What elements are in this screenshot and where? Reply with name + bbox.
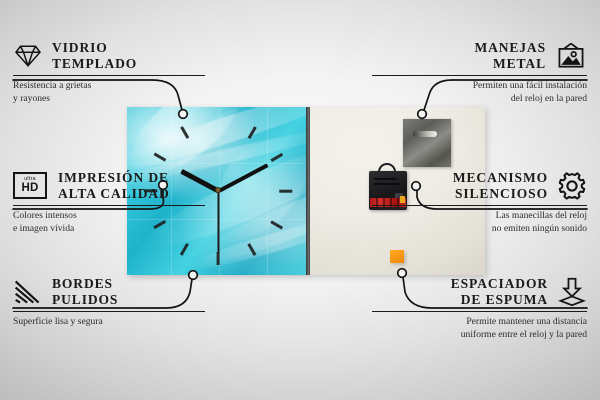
ultra-hd-large-text: HD <box>21 183 38 195</box>
feature-divider <box>13 205 205 207</box>
feature-espaciador-espuma: ESPACIADOR DE ESPUMA Permite mantener un… <box>372 276 587 342</box>
clock-tick <box>271 220 284 229</box>
feature-title-line1: IMPRESIÓN DE <box>58 170 170 186</box>
feature-title-line2: SILENCIOSO <box>453 186 548 202</box>
clock-tick <box>248 243 257 256</box>
feature-title-line2: METAL <box>474 56 546 72</box>
feature-vidrio-templado: VIDRIO TEMPLADO Resistencia a grietas y … <box>13 40 228 106</box>
feature-title-line1: ESPACIADOR <box>451 276 548 292</box>
feature-title-line1: VIDRIO <box>52 40 137 56</box>
ultra-hd-small-text: ultra <box>24 177 36 182</box>
clock-tick <box>154 153 167 162</box>
feature-title-line1: BORDES <box>52 276 118 292</box>
feature-title-line2: ALTA CALIDAD <box>58 186 170 202</box>
foam-spacer-arrow-icon <box>557 277 587 307</box>
polished-edge-icon <box>13 278 43 306</box>
clock-tick <box>180 243 189 256</box>
wall-hanging-frame-icon <box>555 41 587 71</box>
feature-description: Permiten una fácil instalación del reloj… <box>372 80 587 106</box>
clock-tick <box>271 153 284 162</box>
feature-bordes-pulidos: BORDES PULIDOS Superficie lisa y segura <box>13 276 228 329</box>
gear-icon <box>557 171 587 201</box>
feature-impresion-alta-calidad: ultra HD IMPRESIÓN DE ALTA CALIDAD Color… <box>13 170 228 236</box>
ultra-hd-icon: ultra HD <box>13 172 49 200</box>
feature-divider <box>372 75 587 77</box>
feature-description: Resistencia a grietas y rayones <box>13 80 228 106</box>
feature-mecanismo-silencioso: MECANISMO SILENCIOSO Las manecillas del … <box>372 170 587 236</box>
clock-tick <box>217 252 220 265</box>
feature-title-line1: MECANISMO <box>453 170 548 186</box>
clock-tick <box>279 190 292 193</box>
feature-manejas-metal: MANEJAS METAL Permiten una fácil instala… <box>372 40 587 106</box>
feature-divider <box>372 205 587 207</box>
clock-tick <box>180 126 189 139</box>
feature-divider <box>13 75 205 77</box>
feature-title-line2: DE ESPUMA <box>451 292 548 308</box>
feature-title-line2: TEMPLADO <box>52 56 137 72</box>
feature-divider <box>372 311 587 313</box>
feature-divider <box>13 311 205 313</box>
foam-spacer <box>390 250 404 263</box>
diamond-icon <box>13 42 43 70</box>
feature-description: Colores intensos e imagen vívida <box>13 210 228 236</box>
feature-title-line2: PULIDOS <box>52 292 118 308</box>
feature-title-line1: MANEJAS <box>474 40 546 56</box>
feature-description: Permite mantener una distancia uniforme … <box>372 316 587 342</box>
clock-tick <box>248 126 257 139</box>
feature-description: Superficie lisa y segura <box>13 316 228 329</box>
feature-description: Las manecillas del reloj no emiten ningú… <box>372 210 587 236</box>
infographic-canvas: VIDRIO TEMPLADO Resistencia a grietas y … <box>0 0 600 400</box>
metal-hanger-plate <box>403 119 451 167</box>
hanger-slot <box>413 131 437 137</box>
